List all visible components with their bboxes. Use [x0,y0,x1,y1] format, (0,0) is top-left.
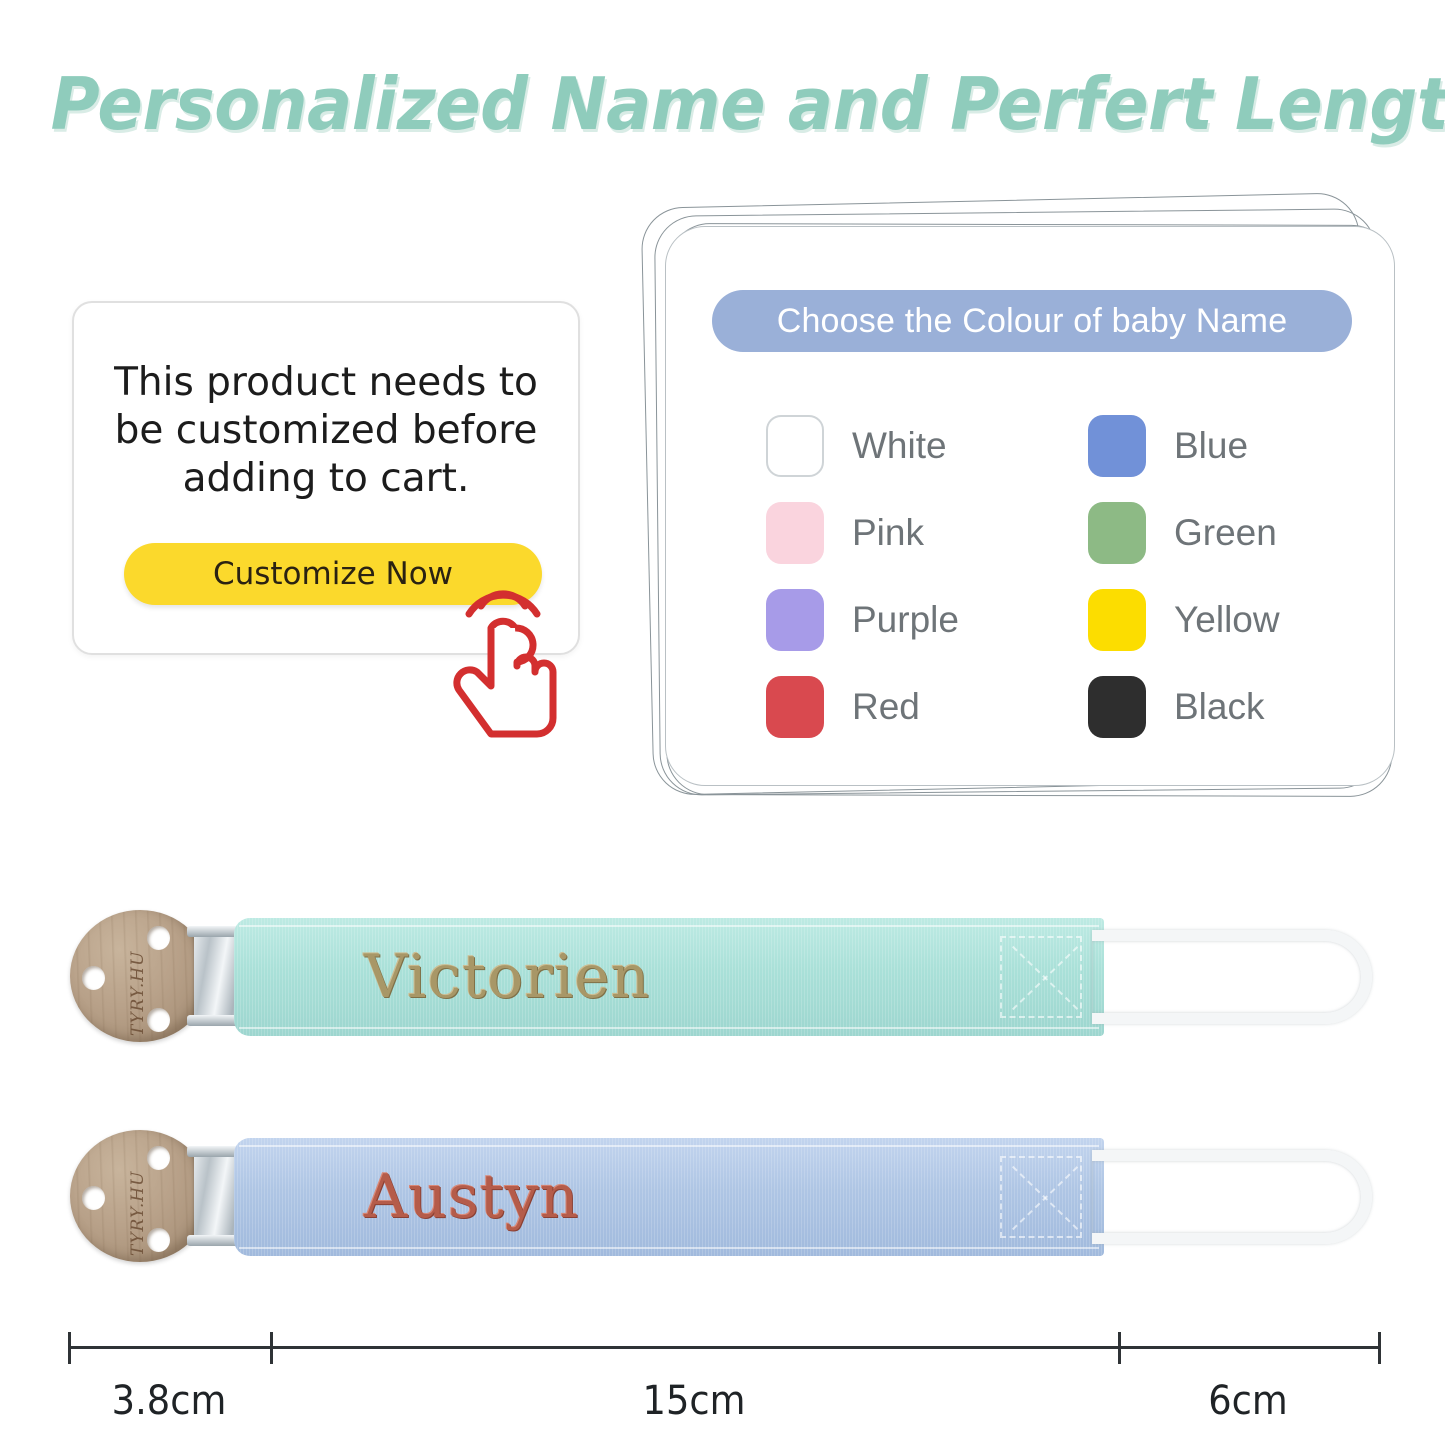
colour-option-green[interactable]: Green [1088,489,1366,576]
embroidered-name-victorien: Victorien [364,942,650,1012]
clip-brand-engraving: TYRY.HU [128,1138,190,1256]
ruler-baseline [68,1346,1378,1349]
elastic-loop [1092,930,1372,1024]
colour-option-blue[interactable]: Blue [1088,402,1366,489]
customize-notice-text: This product needs to be customized befo… [106,359,546,503]
reinforcement-x-stitch [1000,936,1082,1018]
swatch-label-white: White [852,425,947,467]
elastic-loop [1092,1150,1372,1244]
customize-now-button[interactable]: Customize Now [124,543,542,605]
measurement-label-strap: 15cm [304,1378,1084,1424]
measurement-label-loop: 6cm [1128,1378,1367,1424]
ruler-tick-3 [1378,1332,1381,1364]
colour-option-yellow[interactable]: Yellow [1088,576,1366,663]
ruler-tick-1 [270,1332,273,1364]
colour-option-purple[interactable]: Purple [766,576,1044,663]
measurement-ruler: 3.8cm 15cm 6cm [0,1330,1445,1445]
swatch-purple-icon [766,589,824,651]
ruler-tick-0 [68,1332,71,1364]
colour-option-white[interactable]: White [766,402,1044,489]
pacifier-clip-mint: TYRY.HU Victorien [62,888,1382,1063]
pacifier-clip-blue: TYRY.HU Austyn [62,1108,1382,1283]
fabric-strap-mint: Victorien [234,918,1104,1036]
colour-selection-card: Choose the Colour of baby Name White Blu… [665,226,1395,786]
swatch-label-green: Green [1174,512,1277,554]
swatch-blue-icon [1088,415,1146,477]
swatch-label-pink: Pink [852,512,924,554]
customize-notice-card: This product needs to be customized befo… [72,301,580,655]
swatch-white-icon [766,415,824,477]
reinforcement-x-stitch [1000,1156,1082,1238]
embroidered-name-austyn: Austyn [364,1162,579,1232]
clip-hole-left [82,1186,105,1210]
swatch-red-icon [766,676,824,738]
ruler-tick-2 [1118,1332,1121,1364]
swatch-label-yellow: Yellow [1174,599,1280,641]
page-title: Personalized Name and Perfert Length [51,62,1395,146]
swatch-black-icon [1088,676,1146,738]
swatch-pink-icon [766,502,824,564]
colour-selection-card-stack: Choose the Colour of baby Name White Blu… [625,180,1400,820]
colour-swatch-grid: White Blue Pink Green Purple Yellow [766,402,1366,750]
clip-hole-left [82,966,105,990]
measurement-label-clip: 3.8cm [76,1378,262,1424]
colour-option-pink[interactable]: Pink [766,489,1044,576]
swatch-label-purple: Purple [852,599,959,641]
swatch-label-blue: Blue [1174,425,1248,467]
swatch-green-icon [1088,502,1146,564]
swatch-label-black: Black [1174,686,1264,728]
colour-option-black[interactable]: Black [1088,663,1366,750]
colour-option-red[interactable]: Red [766,663,1044,750]
colour-card-header: Choose the Colour of baby Name [712,290,1352,352]
clip-brand-engraving: TYRY.HU [128,918,190,1036]
swatch-label-red: Red [852,686,920,728]
swatch-yellow-icon [1088,589,1146,651]
fabric-strap-blue: Austyn [234,1138,1104,1256]
